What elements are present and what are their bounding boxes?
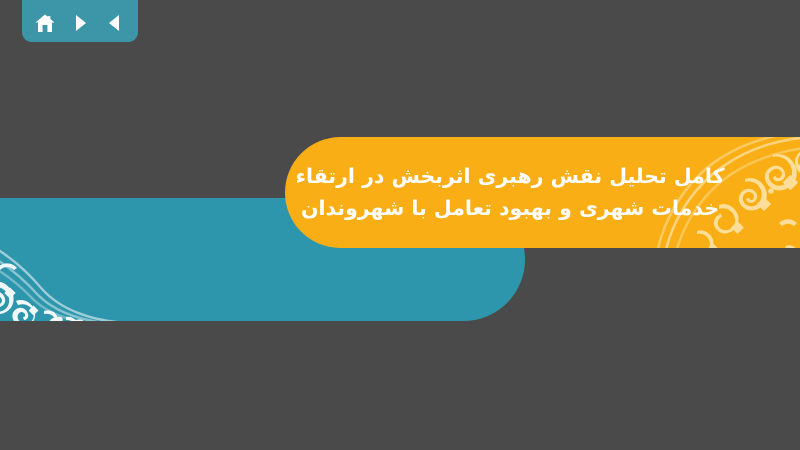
forward-button[interactable]	[66, 10, 94, 36]
slide-title: کامل تحلیل نقش رهبری اثربخش در ارتقاء خد…	[345, 137, 675, 248]
back-button[interactable]	[101, 10, 129, 36]
title-line-2: خدمات شهری و بهبود تعامل با شهروندان	[301, 193, 719, 224]
triangle-left-icon	[105, 13, 125, 33]
triangle-right-icon	[70, 13, 90, 33]
orange-title-banner: کامل تحلیل نقش رهبری اثربخش در ارتقاء خد…	[285, 137, 800, 248]
slide-canvas: کامل تحلیل نقش رهبری اثربخش در ارتقاء خد…	[0, 0, 800, 450]
teal-arabesque-ornament-icon	[0, 198, 170, 321]
navigation-bar	[22, 0, 138, 42]
home-icon	[34, 13, 56, 34]
title-line-1: کامل تحلیل نقش رهبری اثربخش در ارتقاء	[296, 161, 725, 192]
home-button[interactable]	[31, 10, 59, 36]
